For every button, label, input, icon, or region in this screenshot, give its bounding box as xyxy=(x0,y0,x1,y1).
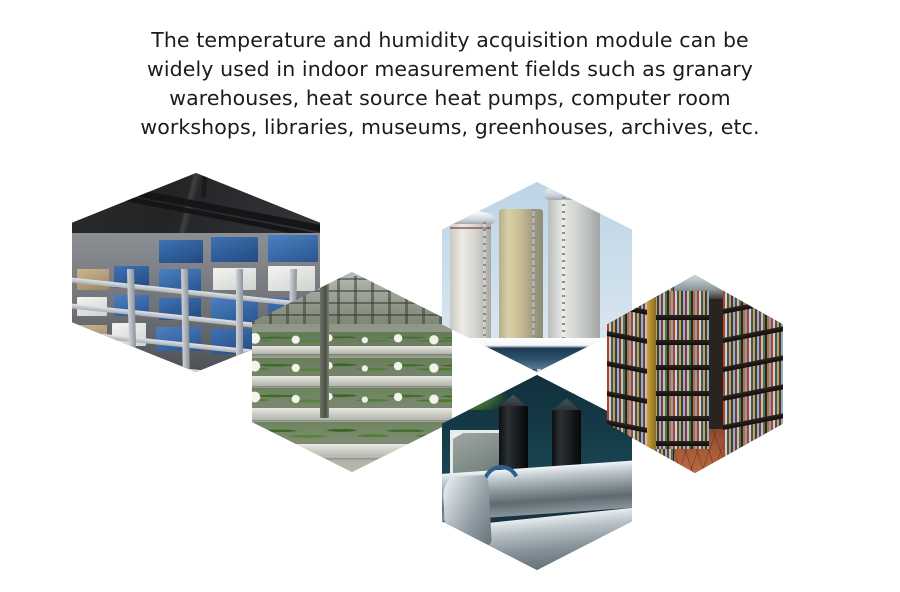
silo-dome xyxy=(545,184,603,200)
roof-truss xyxy=(100,173,106,199)
shelf-post xyxy=(236,269,243,372)
grain-silo xyxy=(450,222,492,342)
library-photo xyxy=(607,275,783,473)
storage-bin xyxy=(268,235,318,261)
hex-image-silos xyxy=(442,182,632,372)
shelf-board xyxy=(649,340,709,345)
shelf-board xyxy=(649,315,709,320)
flower-row xyxy=(252,332,452,346)
flower-row xyxy=(252,358,452,376)
bookshelf xyxy=(649,291,709,449)
roof-truss xyxy=(201,173,208,198)
silo-dome xyxy=(447,211,495,224)
hex-image-library xyxy=(607,275,783,473)
building-windows xyxy=(447,369,591,371)
storage-box xyxy=(213,268,255,290)
planter-row xyxy=(252,376,452,386)
support-pole xyxy=(320,278,329,418)
silos-photo xyxy=(442,182,632,372)
storage-box xyxy=(74,325,106,346)
pump-motor xyxy=(499,406,528,472)
silo-ladder xyxy=(483,222,486,342)
plant-row xyxy=(252,422,452,444)
shelf-board xyxy=(649,365,709,370)
shelf-board xyxy=(649,441,709,446)
hexagon-gallery xyxy=(0,0,900,592)
planter-row xyxy=(252,444,452,458)
grain-silo xyxy=(499,209,543,342)
planter-row xyxy=(252,346,452,354)
shelf-upright xyxy=(647,291,656,449)
hex-image-heat-pump xyxy=(442,375,632,570)
storage-bin xyxy=(159,240,204,264)
grain-silo xyxy=(548,197,599,341)
shelf-board xyxy=(649,416,709,421)
flower-row xyxy=(252,388,452,408)
planter-row xyxy=(252,408,452,420)
heat-pump-photo xyxy=(442,375,632,570)
pipe-elbow xyxy=(442,475,491,547)
silo-ladder xyxy=(562,197,565,341)
storage-bin xyxy=(211,237,258,262)
bookshelf xyxy=(723,275,783,465)
books xyxy=(723,275,783,465)
plant-building xyxy=(442,338,632,372)
silo-ladder xyxy=(532,209,535,342)
shelf-board xyxy=(649,391,709,396)
